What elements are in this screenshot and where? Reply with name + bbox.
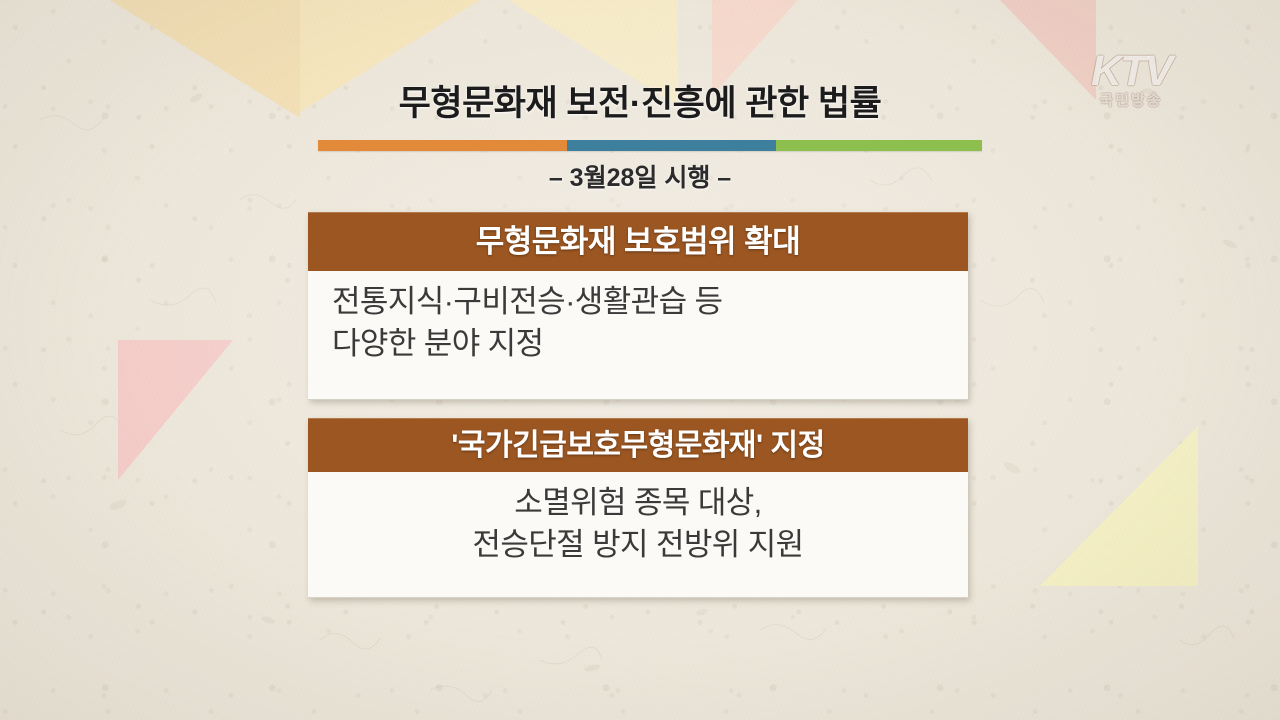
title-block: 무형문화재 보전·진흥에 관한 법률 bbox=[0, 86, 1280, 123]
info-card-2: '국가긴급보호무형문화재' 지정 소멸위험 종목 대상, 전승단절 방지 전방위… bbox=[308, 418, 968, 598]
page-title: 무형문화재 보전·진흥에 관한 법률 bbox=[0, 86, 1280, 123]
info-card-1: 무형문화재 보호범위 확대 전통지식·구비전승·생활관습 등 다양한 분야 지정 bbox=[308, 212, 968, 400]
info-card-2-body: 소멸위험 종목 대상, 전승단절 방지 전방위 지원 bbox=[308, 472, 968, 598]
rule-segment-green bbox=[776, 140, 982, 151]
rule-segment-blue bbox=[567, 140, 776, 151]
info-card-1-body: 전통지식·구비전승·생활관습 등 다양한 분야 지정 bbox=[308, 271, 968, 400]
info-card-1-header: 무형문화재 보호범위 확대 bbox=[308, 212, 968, 271]
info-card-2-line-2: 전승단절 방지 전방위 지원 bbox=[332, 524, 944, 566]
tricolor-rule-bar bbox=[318, 140, 982, 151]
info-card-1-line-1: 전통지식·구비전승·생활관습 등 bbox=[332, 281, 944, 323]
rule-segment-orange bbox=[318, 140, 567, 151]
info-card-1-line-2: 다양한 분야 지정 bbox=[332, 323, 944, 365]
info-card-2-line-1: 소멸위험 종목 대상, bbox=[332, 482, 944, 524]
news-graphic-stage: KTV 국민방송 무형문화재 보전·진흥에 관한 법률 – 3월28일 시행 –… bbox=[0, 0, 1280, 720]
page-subtitle: – 3월28일 시행 – bbox=[0, 158, 1280, 194]
info-card-2-header: '국가긴급보호무형문화재' 지정 bbox=[308, 418, 968, 472]
